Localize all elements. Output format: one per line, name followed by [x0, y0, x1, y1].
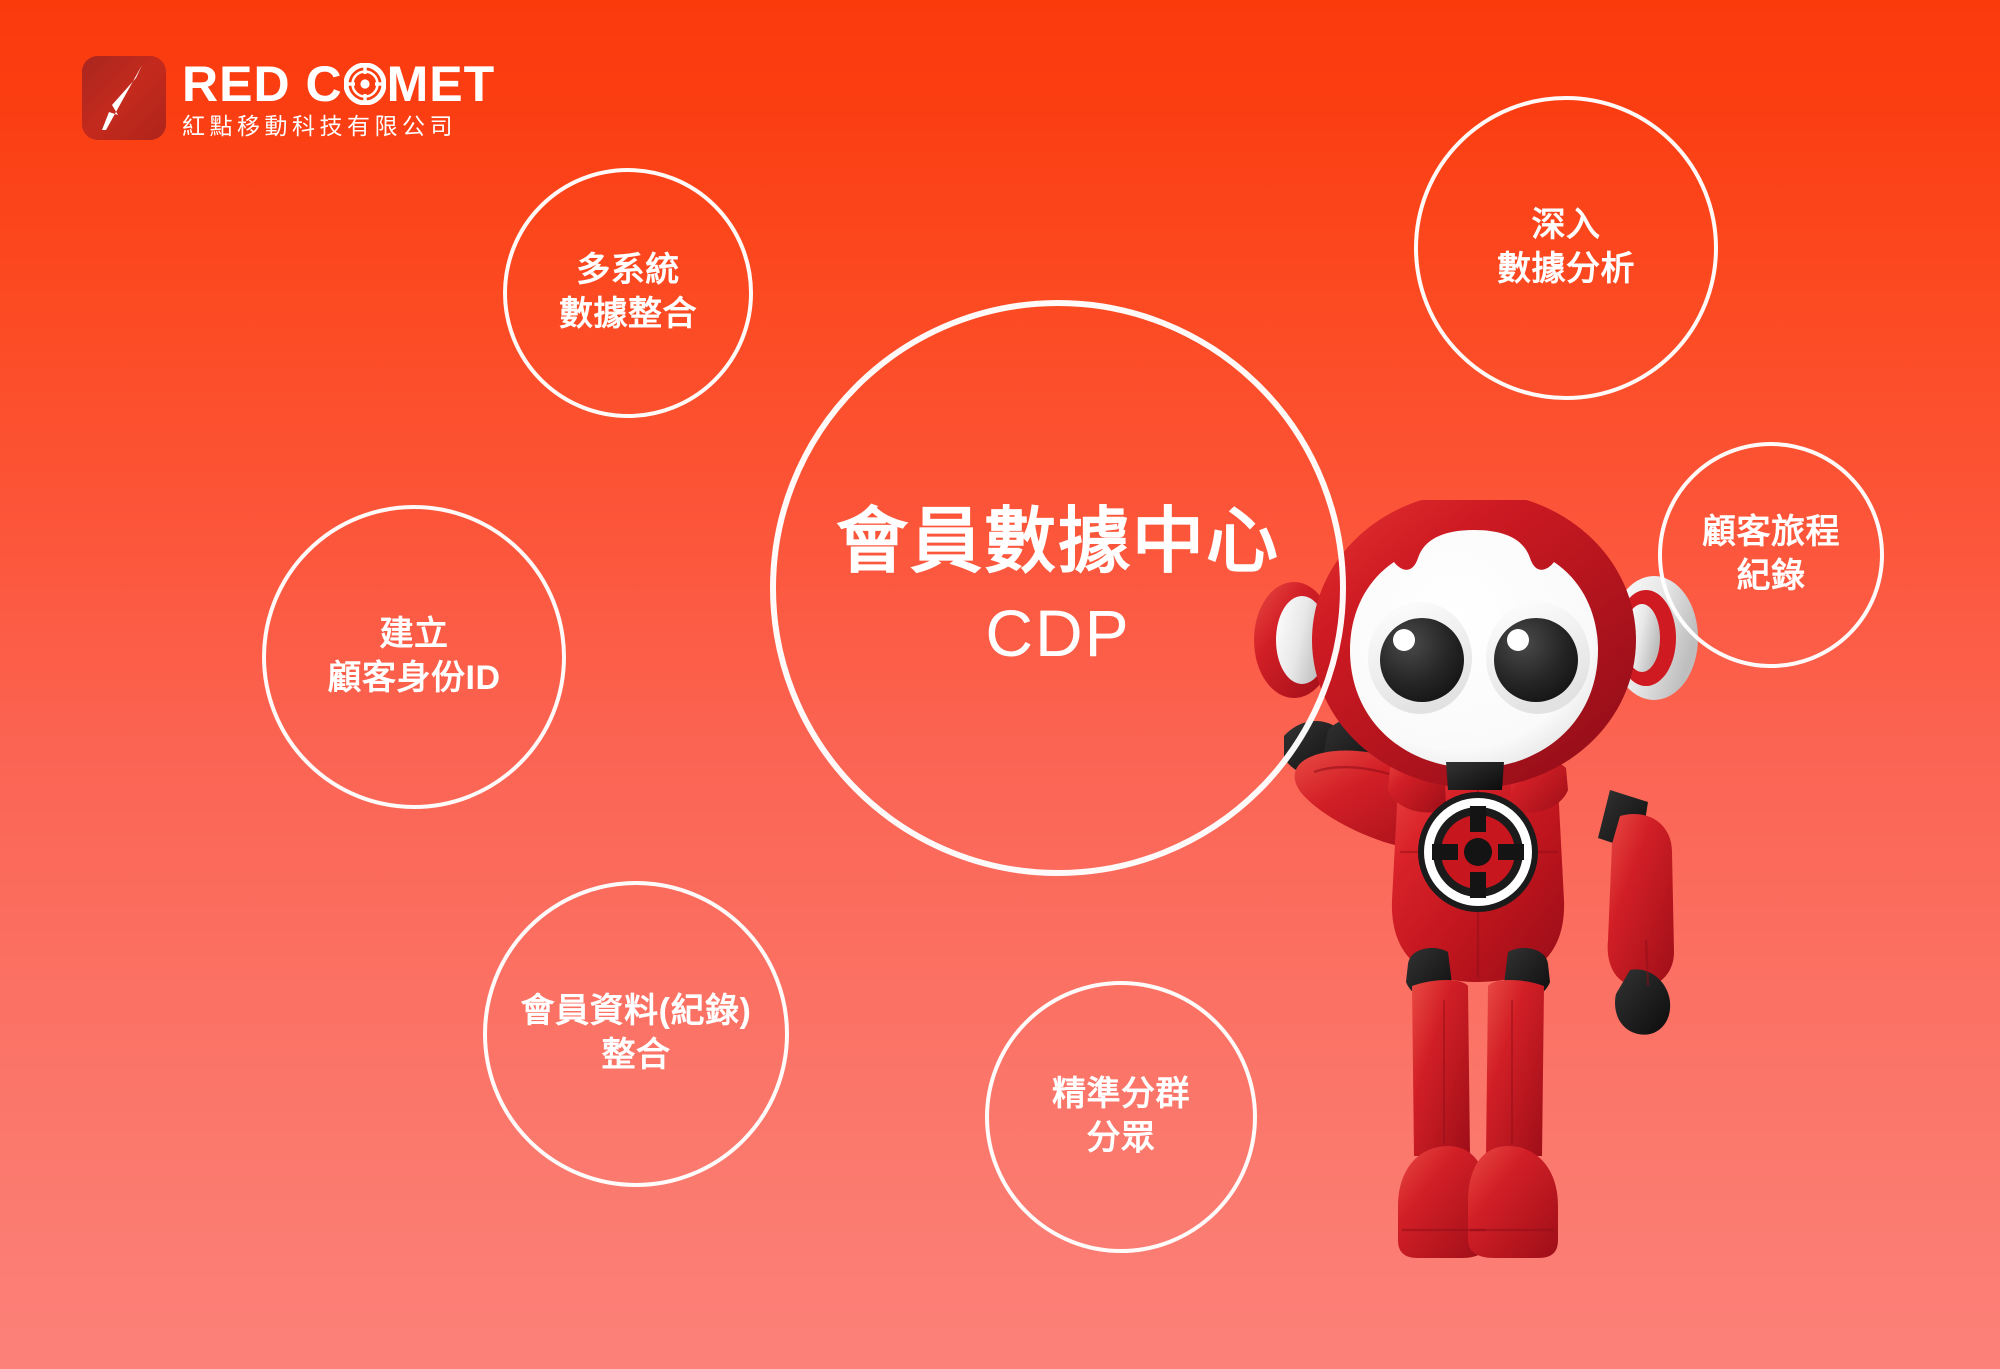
node-line2: 整合	[521, 1034, 752, 1078]
node-line1: 顧客旅程	[1702, 511, 1840, 555]
company-name-zh: 紅點移動科技有限公司	[182, 115, 495, 138]
center-node-subtitle: CDP	[836, 591, 1280, 677]
node-line2: 數據整合	[559, 293, 697, 337]
node-precise-segmentation[interactable]: 精準分群 分眾	[985, 981, 1257, 1253]
brand-logo: RED C MET 紅點移動科技有限公司	[82, 56, 495, 140]
robot-legs	[1398, 948, 1558, 1258]
comet-mark-icon	[82, 56, 166, 140]
node-multi-system-data-integration[interactable]: 多系統 數據整合	[503, 168, 753, 418]
center-node-title: 會員數據中心	[836, 500, 1280, 585]
crosshair-target-icon	[344, 63, 386, 105]
center-node-text: 會員數據中心 CDP	[826, 500, 1290, 677]
node-line1: 深入	[1497, 204, 1635, 248]
node-line1: 會員資料(紀錄)	[521, 990, 752, 1034]
node-line2: 數據分析	[1497, 248, 1635, 292]
node-line1: 建立	[328, 613, 501, 657]
brand-wordmark: RED C MET	[182, 58, 495, 110]
node-line1: 多系統	[559, 249, 697, 293]
node-line2: 分眾	[1052, 1117, 1190, 1161]
node-line2: 顧客身份ID	[328, 657, 501, 701]
node-build-customer-identity-id[interactable]: 建立 顧客身份ID	[262, 505, 566, 809]
node-customer-journey-record[interactable]: 顧客旅程 紀錄	[1658, 442, 1884, 668]
node-line1: 精準分群	[1052, 1073, 1190, 1117]
slide-canvas: RED C MET 紅點移動科技有限公司	[0, 0, 2000, 1369]
robot-eye-left	[1368, 602, 1472, 714]
node-line2: 紀錄	[1702, 555, 1840, 599]
wordmark-part2: MET	[387, 59, 496, 109]
center-node-cdp[interactable]: 會員數據中心 CDP	[770, 300, 1346, 876]
wordmark-part1: RED C	[182, 59, 343, 109]
node-member-data-record-integration[interactable]: 會員資料(紀錄) 整合	[483, 881, 789, 1187]
robot-right-arm	[1598, 790, 1674, 1035]
crosshair-target-icon	[1418, 792, 1538, 912]
robot-eye-right	[1486, 602, 1590, 714]
node-deep-data-analysis[interactable]: 深入 數據分析	[1414, 96, 1718, 400]
